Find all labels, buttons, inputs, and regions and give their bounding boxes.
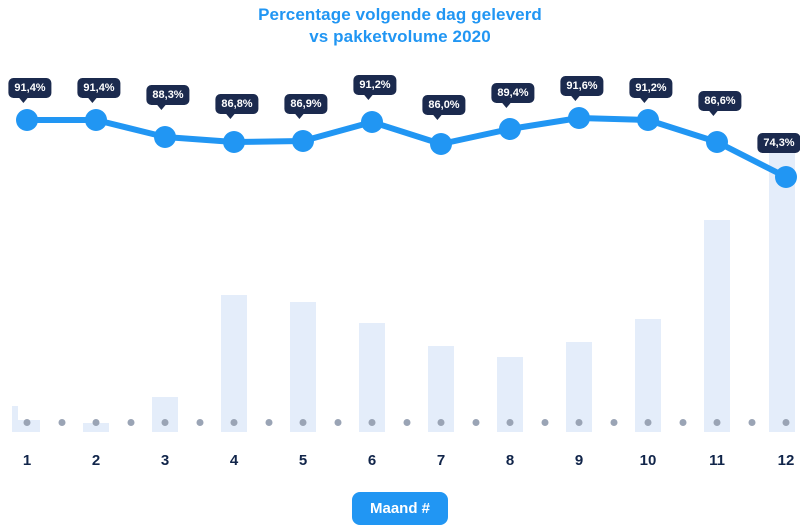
chart-title: Percentage volgende dag geleverd vs pakk… [0, 4, 800, 48]
x-tick-5: 5 [299, 452, 307, 469]
x-tick-1: 1 [23, 452, 31, 469]
line-marker [637, 109, 659, 131]
line-marker [154, 126, 176, 148]
data-label-month-6: 91,2% [353, 75, 396, 95]
x-axis-tick-labels: 1 2 3 4 5 6 7 8 9 10 11 12 [0, 452, 800, 476]
plot-area: 91,4% 91,4% 88,3% 86,8% 86,9% 91,2% 86,0… [0, 60, 800, 432]
x-tick-10: 10 [640, 452, 657, 469]
data-label-month-5: 86,9% [284, 94, 327, 114]
data-label-month-9: 91,6% [560, 76, 603, 96]
line-marker [16, 109, 38, 131]
line-marker [85, 109, 107, 131]
data-label-month-11: 86,6% [698, 91, 741, 111]
line-marker [775, 166, 797, 188]
line-path [27, 118, 786, 177]
chart-title-line-1: Percentage volgende dag geleverd [258, 5, 542, 24]
data-label-month-4: 86,8% [215, 94, 258, 114]
line-marker [568, 107, 590, 129]
x-tick-9: 9 [575, 452, 583, 469]
line-marker [292, 130, 314, 152]
x-tick-8: 8 [506, 452, 514, 469]
chart-container: Percentage volgende dag geleverd vs pakk… [0, 0, 800, 532]
x-tick-12: 12 [778, 452, 795, 469]
line-marker [223, 131, 245, 153]
data-label-month-8: 89,4% [491, 83, 534, 103]
data-label-month-3: 88,3% [146, 85, 189, 105]
line-marker [430, 133, 452, 155]
data-label-month-12: 74,3% [757, 133, 800, 153]
x-tick-4: 4 [230, 452, 238, 469]
x-tick-3: 3 [161, 452, 169, 469]
x-tick-2: 2 [92, 452, 100, 469]
x-tick-7: 7 [437, 452, 445, 469]
chart-title-line-2: vs pakketvolume 2020 [0, 26, 800, 48]
x-tick-6: 6 [368, 452, 376, 469]
line-marker [361, 111, 383, 133]
data-label-month-1: 91,4% [8, 78, 51, 98]
line-marker [499, 118, 521, 140]
data-label-month-2: 91,4% [77, 78, 120, 98]
x-tick-11: 11 [709, 452, 725, 469]
x-axis-title: Maand # [352, 492, 448, 525]
line-series [0, 60, 800, 432]
data-label-month-10: 91,2% [629, 78, 672, 98]
line-marker [706, 131, 728, 153]
data-label-month-7: 86,0% [422, 95, 465, 115]
